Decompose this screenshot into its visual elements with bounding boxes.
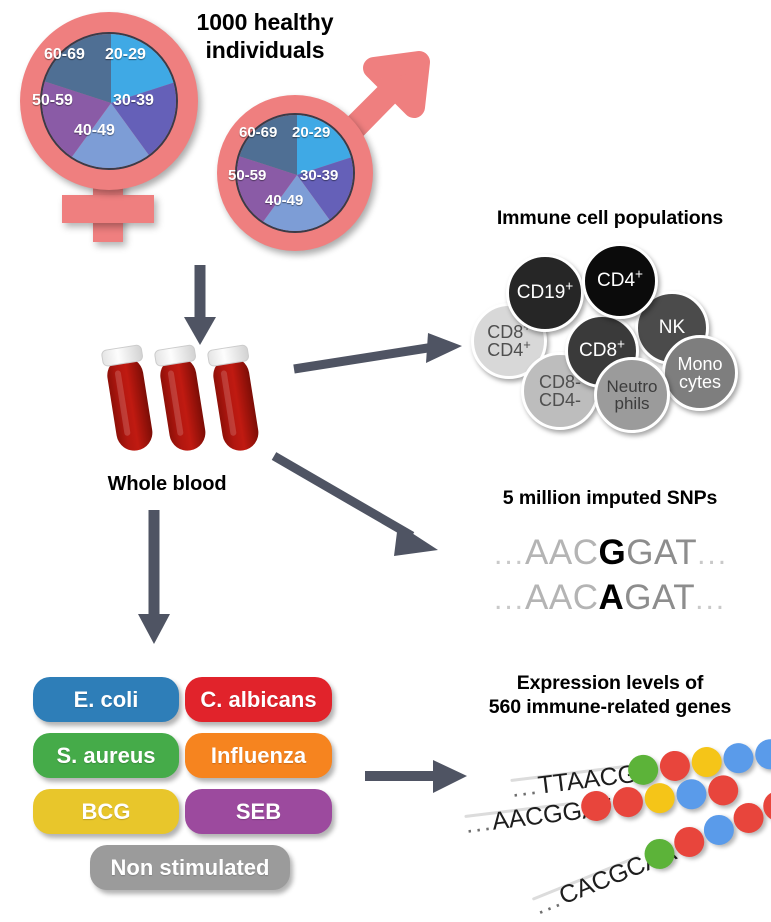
snp-bases-prefix: AAC [525, 533, 598, 572]
stimulation-label: Influenza [211, 743, 306, 769]
expression-title: Expression levels of 560 immune-related … [455, 672, 765, 720]
stimulation-box-s-aureus[interactable]: S. aureus [33, 733, 179, 778]
cell-label-line-1: Mono [677, 355, 722, 373]
stimulation-box-c-albicans[interactable]: C. albicans [185, 677, 332, 722]
cell-label-line-2: CD4+ [487, 341, 531, 359]
immune-cell-monocytes: Mono cytes [662, 335, 738, 411]
strand-bead [675, 778, 708, 811]
snp-bases-prefix: AAC [525, 578, 598, 617]
strand-bead [658, 749, 691, 782]
stimulation-label: Non stimulated [111, 855, 270, 881]
arrow-stimulation-to-expression [363, 752, 473, 802]
cell-label: CD19+ [517, 283, 574, 302]
cell-label-line-2: CD4- [539, 391, 581, 409]
snp-trailing-dots: ... [695, 583, 726, 616]
stimulation-label: E. coli [74, 687, 139, 713]
expression-title-line-1: Expression levels of [455, 672, 765, 696]
stimulation-box-seb[interactable]: SEB [185, 789, 332, 834]
snp-bases-suffix: GAT [626, 533, 697, 572]
strand-bead [643, 781, 676, 814]
cell-label-line-2: cytes [677, 373, 722, 391]
arrow-blood-to-stimulation [125, 510, 185, 660]
strand-bead [690, 745, 723, 778]
cell-label: CD4+ [597, 271, 643, 290]
arrow-blood-to-snps [272, 450, 452, 570]
immune-cell-neutrophils: Neutro phils [594, 357, 670, 433]
snp-bases-suffix: GAT [624, 578, 695, 617]
strand-leading-dots: ... [510, 772, 540, 803]
expression-title-line-2: 560 immune-related genes [455, 696, 765, 720]
whole-blood-label: Whole blood [62, 472, 272, 496]
snps-title: 5 million imputed SNPs [455, 487, 765, 511]
stimulation-label: BCG [82, 799, 131, 825]
stimulation-label: S. aureus [56, 743, 155, 769]
strand-leading-dots: ... [464, 808, 494, 839]
cell-label: CD8+ [579, 341, 625, 360]
snp-variant-base: A [598, 578, 624, 617]
stimulation-box-e-coli[interactable]: E. coli [33, 677, 179, 722]
stimulation-box-non-stimulated[interactable]: Non stimulated [90, 845, 290, 890]
strand-bead [611, 785, 644, 818]
cell-label-line-1: Neutro [606, 378, 657, 395]
cell-label-line-2: phils [606, 395, 657, 412]
immune-cell-cd4pos: CD4+ [582, 243, 658, 319]
immune-cell-cd19pos: CD19+ [506, 254, 584, 332]
snp-sequence-row-1: ...AACGGAT... [494, 533, 728, 573]
snp-sequence-row-2: ...AACAGAT... [494, 578, 726, 618]
strand-bead [706, 774, 739, 807]
strand-bead [753, 738, 771, 771]
snp-leading-dots: ... [494, 538, 525, 571]
cell-label: NK [659, 318, 685, 337]
stimulation-label: SEB [236, 799, 281, 825]
snp-variant-base: G [598, 533, 626, 572]
immune-cell-cluster: CD8+ CD4+ CD19+ CD4+ NK CD8+ Mono cytes … [0, 0, 771, 430]
figure-canvas: 1000 healthy individuals 20-29 30-39 40-… [0, 0, 771, 922]
snp-leading-dots: ... [494, 583, 525, 616]
stimulation-label: C. albicans [200, 687, 316, 713]
strand-bead [722, 741, 755, 774]
snp-trailing-dots: ... [697, 538, 728, 571]
stimulation-box-bcg[interactable]: BCG [33, 789, 179, 834]
stimulation-box-influenza[interactable]: Influenza [185, 733, 332, 778]
